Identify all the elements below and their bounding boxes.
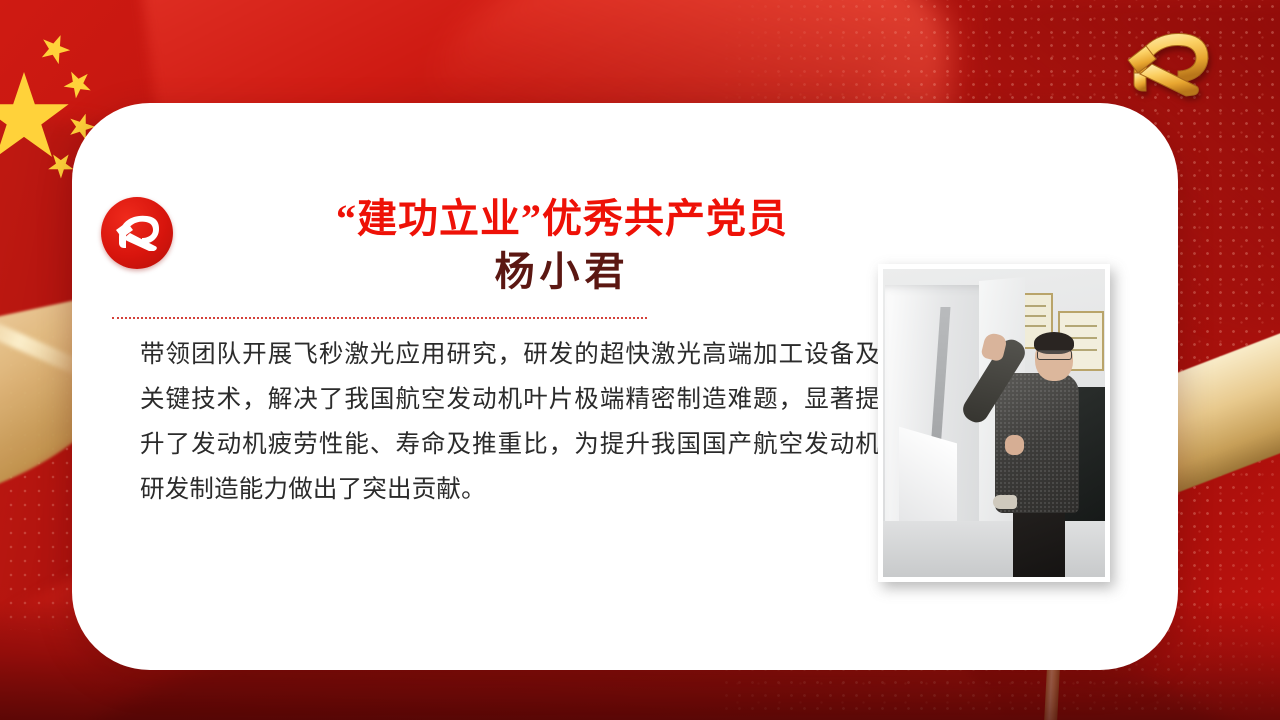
photo-person-hand — [980, 332, 1008, 363]
flag-star-large-icon — [0, 72, 70, 164]
honoree-name: 杨小君 — [192, 246, 932, 297]
title-block: “建功立业”优秀共产党员 杨小君 — [192, 195, 932, 297]
dotted-divider — [112, 317, 647, 319]
flag-star-small-1-icon — [35, 29, 74, 68]
hammer-sickle-gold-icon — [1112, 24, 1222, 108]
hammer-sickle-white-icon — [112, 211, 162, 255]
content-card: “建功立业”优秀共产党员 杨小君 带领团队开展飞秒激光应用研究，研发的超快激光高… — [72, 103, 1178, 670]
flag-star-small-2-icon — [58, 64, 98, 104]
honoree-photo-image — [883, 269, 1105, 577]
slide-root: “建功立业”优秀共产党员 杨小君 带领团队开展飞秒激光应用研究，研发的超快激光高… — [0, 0, 1280, 720]
honoree-photo — [878, 264, 1110, 582]
party-badge — [101, 197, 173, 269]
achievement-paragraph: 带领团队开展飞秒激光应用研究，研发的超快激光高端加工设备及关键技术，解决了我国航… — [140, 331, 880, 511]
photo-person-legs — [1013, 507, 1065, 577]
photo-person-shoe — [993, 495, 1017, 509]
photo-person — [979, 317, 1097, 577]
photo-person-glasses — [1037, 350, 1072, 360]
page-title: “建功立业”优秀共产党员 — [192, 195, 932, 244]
photo-person-hand-2 — [1005, 435, 1024, 455]
